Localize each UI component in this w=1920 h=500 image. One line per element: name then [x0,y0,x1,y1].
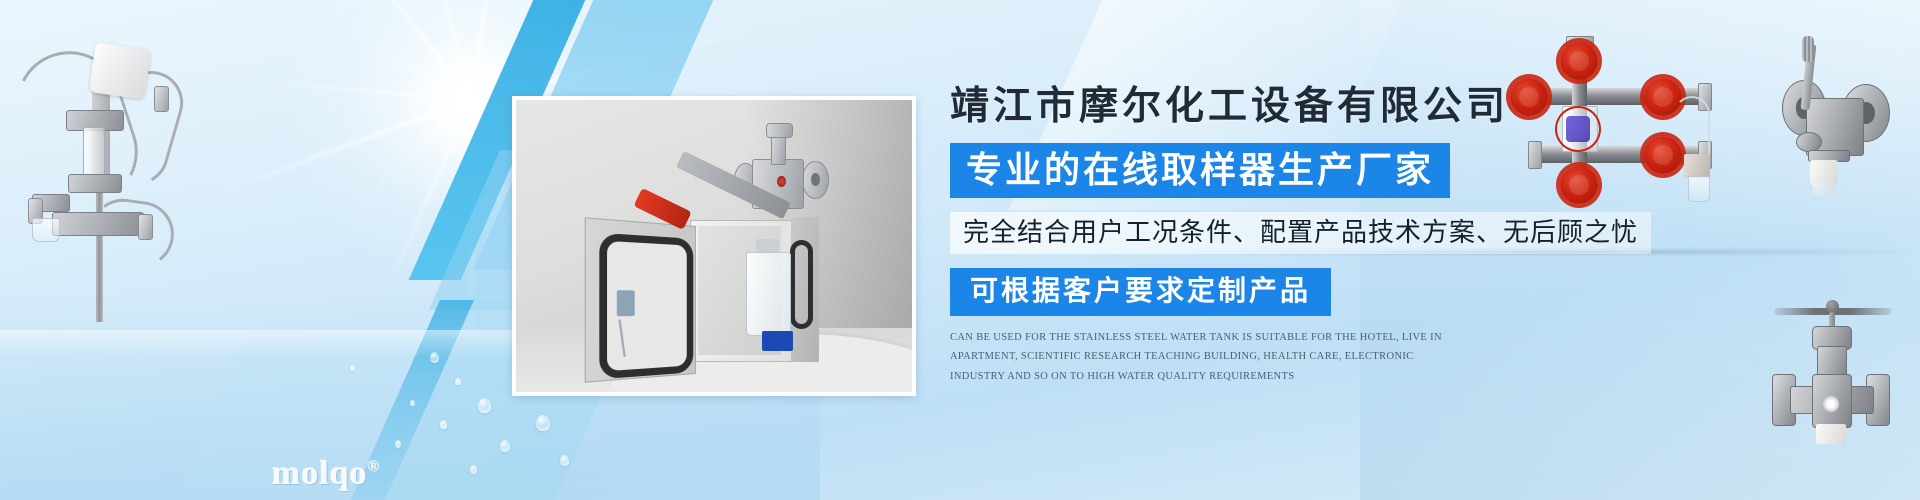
product-photo-online-sampler [516,100,912,392]
water-droplet [395,440,401,448]
water-droplet [560,455,569,466]
headline-badge: 专业的在线取样器生产厂家 [950,143,1450,198]
product-render-flanged-valve [1782,24,1912,204]
registered-mark-icon: ® [368,459,381,476]
water-droplet [500,440,510,452]
watermark-text: molqo [272,455,368,492]
water-droplet [440,420,447,429]
water-droplet [470,465,477,474]
product-photo-frame [512,96,916,396]
water-droplet [410,400,415,406]
valve-handwheel [1510,78,1548,116]
product-render-handwheel-valve [1760,278,1910,448]
valve-handwheel [1560,42,1598,80]
subheadline: 完全结合用户工况条件、配置产品技术方案、无后顾之忧 [950,212,1651,254]
water-droplet [536,415,550,431]
water-droplet [455,378,461,385]
watermark-logo: molqo® [272,455,381,493]
promo-banner: 靖江市摩尔化工设备有限公司 专业的在线取样器生产厂家 完全结合用户工况条件、配置… [0,0,1920,500]
water-droplet [430,352,439,363]
product-render-left-sampler [8,22,188,322]
product-render-cross-valve [1488,26,1748,206]
custom-product-badge: 可根据客户要求定制产品 [950,268,1331,316]
valve-handwheel [1560,166,1598,204]
brand-seal-icon [1557,108,1599,150]
english-caption: CAN BE USED FOR THE STAINLESS STEEL WATE… [950,328,1455,386]
water-droplet [350,365,355,371]
water-droplet [478,398,491,413]
